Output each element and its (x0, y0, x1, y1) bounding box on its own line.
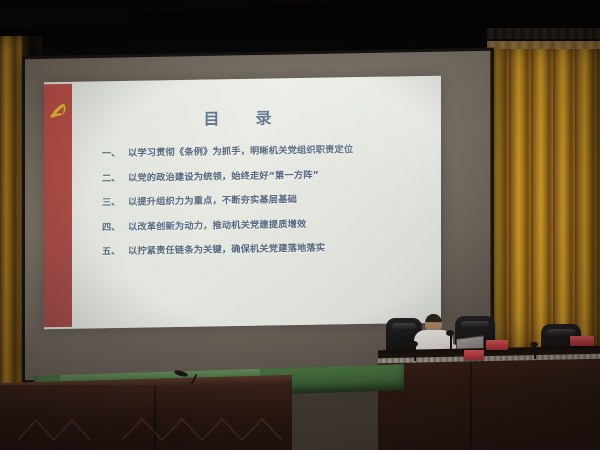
chair-highlight (461, 321, 489, 328)
presentation-slide: 目 录 一、 以学习贯彻《条例》为抓手，明晰机关党组织职责定位 二、 以党的政治… (44, 76, 441, 330)
list-item: 五、 以拧紧责任链条为关键，确保机关党建落地落实 (102, 238, 432, 257)
agenda-item-text: 以拧紧责任链条为关键，确保机关党建落地落实 (128, 240, 325, 257)
microphone-head (446, 330, 454, 336)
agenda-item-text: 以党的政治建设为统领，始终走好“第一方阵” (128, 166, 319, 183)
agenda-item-text: 以提升组织力为重点，不断夯实基层基础 (128, 191, 297, 208)
agenda-item-number: 五、 (102, 243, 128, 257)
nameplate (570, 336, 594, 346)
agenda-item-text: 以改革创新为动力，推动机关党建提质增效 (128, 215, 306, 232)
agenda-item-number: 一、 (102, 145, 128, 159)
slide-title: 目 录 (44, 102, 441, 133)
microphone-head (530, 342, 538, 347)
curtain-rod (487, 28, 600, 41)
list-item: 四、 以改革创新为动力，推动机关党建提质增效 (102, 213, 432, 232)
nameplate (464, 350, 484, 360)
head-table-right (378, 352, 600, 450)
list-item: 一、 以学习贯彻《条例》为抓手，明晰机关党组织职责定位 (102, 140, 432, 159)
conference-hall-photo: 目 录 一、 以学习贯彻《条例》为抓手，明晰机关党组织职责定位 二、 以党的政治… (0, 0, 600, 450)
microphone-head (410, 341, 418, 347)
nameplate (486, 340, 508, 350)
list-item: 二、 以党的政治建设为统领，始终走好“第一方阵” (102, 164, 432, 183)
microphone-stem (534, 345, 536, 359)
microphone-stem (414, 345, 416, 361)
chair-highlight (392, 323, 416, 330)
list-item: 三、 以提升组织力为重点，不断夯实基层基础 (102, 189, 432, 208)
agenda-item-number: 三、 (102, 194, 128, 208)
agenda-item-number: 四、 (102, 218, 128, 232)
agenda-item-text: 以学习贯彻《条例》为抓手，明晰机关党组织职责定位 (128, 141, 353, 159)
front-table-chevron-carving (10, 404, 290, 450)
slide-agenda-list: 一、 以学习贯彻《条例》为抓手，明晰机关党组织职责定位 二、 以党的政治建设为统… (102, 140, 432, 268)
microphone-stem (450, 334, 452, 356)
head-table-panel-seam (470, 362, 472, 450)
chair-highlight (547, 329, 575, 336)
agenda-item-number: 二、 (102, 169, 128, 183)
